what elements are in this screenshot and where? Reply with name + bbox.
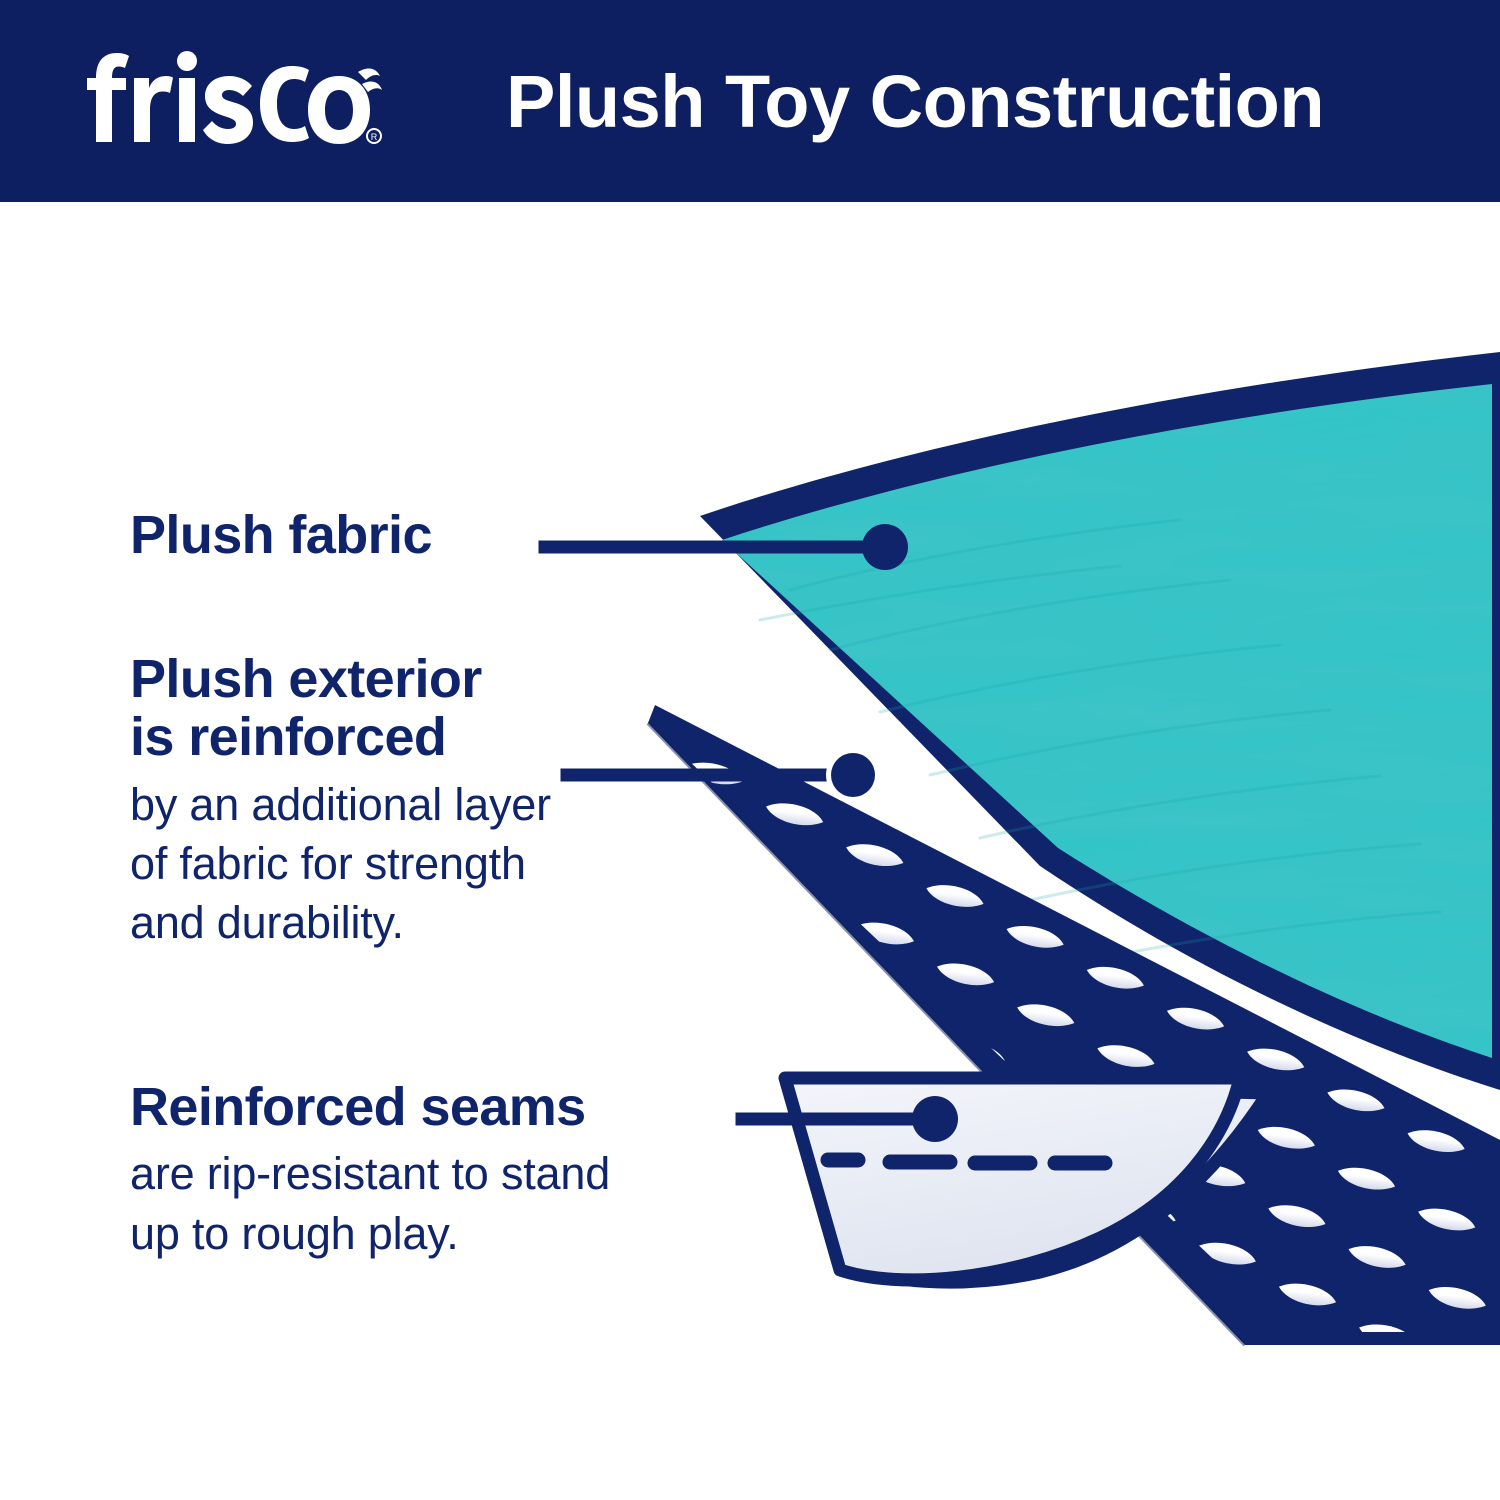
frisco-logo: R	[86, 46, 386, 156]
callout-plush-exterior: Plush exterior is reinforced by an addit…	[130, 650, 730, 953]
page-title: Plush Toy Construction	[506, 50, 1406, 154]
header-bar: R Plush Toy Construction	[0, 0, 1500, 202]
callout-reinforced-seams: Reinforced seams are rip-resistant to st…	[130, 1078, 790, 1263]
leader-dot-reinforced-seams	[912, 1096, 958, 1142]
callout-plush-exterior-title: Plush exterior is reinforced	[130, 650, 730, 767]
svg-text:R: R	[371, 132, 378, 142]
callout-plush-exterior-body: by an additional layer of fabric for str…	[130, 775, 730, 953]
infographic-page: R Plush Toy Construction	[0, 0, 1500, 1500]
callout-reinforced-seams-title: Reinforced seams	[130, 1078, 790, 1136]
leader-dot-plush-fabric	[862, 524, 908, 570]
callout-plush-fabric-title: Plush fabric	[130, 506, 560, 564]
callout-reinforced-seams-body: are rip-resistant to stand up to rough p…	[130, 1144, 790, 1263]
callout-plush-fabric: Plush fabric	[130, 506, 560, 564]
